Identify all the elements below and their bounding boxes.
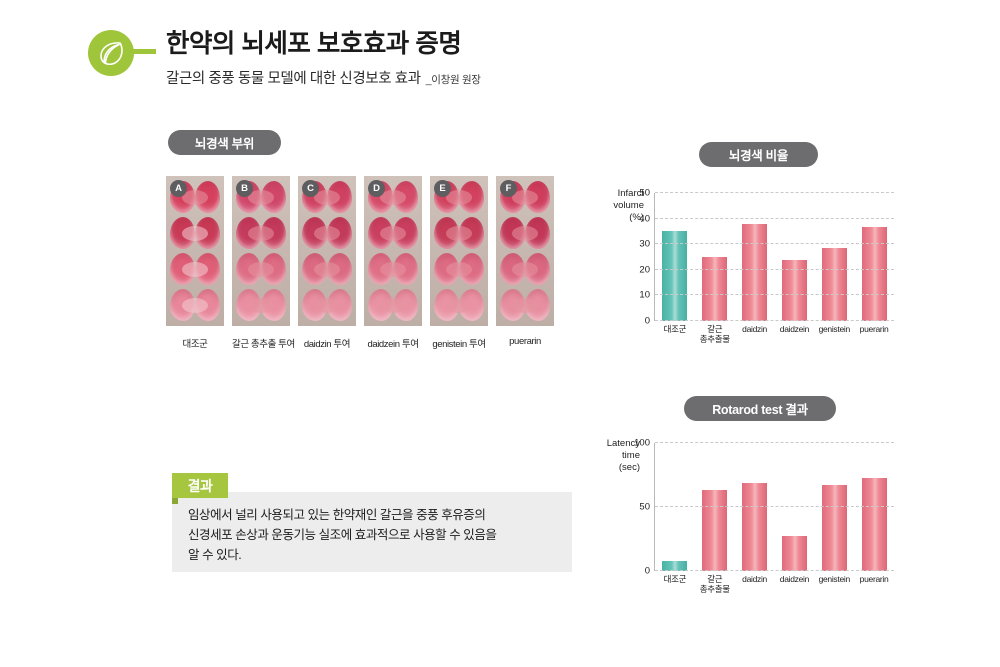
bar-slot <box>774 443 814 571</box>
panel-letter-badge: B <box>236 180 253 197</box>
y-axis-tick-label: 0 <box>645 316 650 327</box>
y-axis-tick-label: 50 <box>639 502 650 513</box>
panel-caption: puerarin <box>496 336 554 347</box>
panel-caption: 대조군 <box>166 336 224 350</box>
brain-slice <box>434 217 484 249</box>
brain-slice-strip: E <box>430 176 488 326</box>
result-tab-label: 결과 <box>172 473 228 498</box>
brain-slice-core <box>380 298 406 313</box>
panel-letter-badge: C <box>302 180 319 197</box>
logo-bar <box>132 49 156 54</box>
panel-letter-badge: E <box>434 180 451 197</box>
brain-slice <box>302 253 352 285</box>
panel-caption: genistein 투여 <box>430 336 488 350</box>
brain-slice <box>368 289 418 321</box>
page-header: 한약의 뇌세포 보호효과 증명 갈근의 중풍 동물 모델에 대한 신경보호 효과… <box>88 28 481 88</box>
result-body-text: 임상에서 널리 사용되고 있는 한약재인 갈근을 중풍 후유증의 신경세포 손상… <box>188 506 562 565</box>
bar <box>822 485 847 571</box>
brain-slice <box>236 289 286 321</box>
bar-slot <box>774 193 814 321</box>
bar <box>742 483 767 571</box>
brain-slice-core <box>380 262 406 277</box>
brain-slice-strip: A <box>166 176 224 326</box>
brain-slice-core <box>248 262 274 277</box>
panel-letter-badge: A <box>170 180 187 197</box>
brain-slice-core <box>248 226 274 241</box>
bar-slot <box>735 193 775 321</box>
gridline: 40 <box>655 218 894 219</box>
chart1-y-axis-title: Infarctvolume(%) <box>598 188 644 224</box>
brain-panel-c: Cdaidzin 투여 <box>298 176 356 350</box>
brain-slice <box>236 253 286 285</box>
brain-panel-group: A대조군B갈근 총추출 투여Cdaidzin 투여Ddaidzein 투여Ege… <box>166 176 554 350</box>
gridline: 0 <box>655 320 894 321</box>
y-axis-tick-label: 100 <box>634 438 650 449</box>
x-axis-tick-label: 갈근총추출물 <box>695 325 735 345</box>
bar-slot <box>854 193 894 321</box>
bar <box>742 224 767 321</box>
brain-slice-core <box>314 298 340 313</box>
result-box: 결과 임상에서 널리 사용되고 있는 한약재인 갈근을 중풍 후유증의 신경세포… <box>172 492 572 572</box>
gridline: 50 <box>655 506 894 507</box>
panel-caption: daidzein 투여 <box>364 336 422 350</box>
title-block: 한약의 뇌세포 보호효과 증명 갈근의 중풍 동물 모델에 대한 신경보호 효과… <box>166 28 481 88</box>
brain-panel-d: Ddaidzein 투여 <box>364 176 422 350</box>
brain-slice-core <box>512 298 538 313</box>
bar-slot <box>655 443 695 571</box>
brain-slice-core <box>182 298 208 313</box>
chart-latency-time: Latencytime(sec) 대조군갈근총추출물daidzindaidzei… <box>594 434 898 594</box>
brain-slice-core <box>182 262 208 277</box>
bar <box>822 248 847 321</box>
brain-slice <box>434 253 484 285</box>
chart1-x-labels: 대조군갈근총추출물daidzindaidzeingenisteinpuerari… <box>655 321 894 345</box>
chart2-x-labels: 대조군갈근총추출물daidzindaidzeingenisteinpuerari… <box>655 571 894 595</box>
brain-slice-core <box>512 262 538 277</box>
brain-slice <box>170 289 220 321</box>
brain-slice-strip: D <box>364 176 422 326</box>
brain-slice-strip: C <box>298 176 356 326</box>
gridline: 30 <box>655 243 894 244</box>
section-badge-brain-infarct-area: 뇌경색 부위 <box>168 130 281 155</box>
author-credit: _이창원 원장 <box>426 72 481 87</box>
brain-slice <box>302 289 352 321</box>
brain-panel-b: B갈근 총추출 투여 <box>232 176 290 350</box>
brain-slice-core <box>446 226 472 241</box>
bar-slot <box>814 193 854 321</box>
chart-infarct-volume: Infarctvolume(%) 대조군갈근총추출물daidzindaidzei… <box>598 184 898 344</box>
gridline: 0 <box>655 570 894 571</box>
chart1-bars <box>655 193 894 321</box>
y-axis-tick-label: 50 <box>639 188 650 199</box>
bar <box>862 478 887 571</box>
x-axis-tick-label: 대조군 <box>655 575 695 595</box>
page-title: 한약의 뇌세포 보호효과 증명 <box>166 30 481 59</box>
brain-slice-core <box>446 262 472 277</box>
brain-slice-core <box>182 226 208 241</box>
logo <box>88 28 160 78</box>
panel-caption: daidzin 투여 <box>298 336 356 350</box>
chart2-y-axis-title: Latencytime(sec) <box>594 438 640 474</box>
x-axis-tick-label: genistein <box>814 325 854 345</box>
brain-slice <box>170 217 220 249</box>
brain-slice-core <box>314 226 340 241</box>
brain-slice <box>368 217 418 249</box>
section-badge-rotarod-result: Rotarod test 결과 <box>684 396 836 421</box>
brain-slice-strip: F <box>496 176 554 326</box>
chart2-bars <box>655 443 894 571</box>
bar <box>782 536 807 571</box>
bar <box>702 257 727 321</box>
leaf-icon <box>97 39 125 67</box>
gridline: 100 <box>655 442 894 443</box>
bar-slot <box>854 443 894 571</box>
y-axis-tick-label: 40 <box>639 213 650 224</box>
bar-slot <box>814 443 854 571</box>
panel-caption: 갈근 총추출 투여 <box>232 336 290 350</box>
brain-slice <box>500 253 550 285</box>
y-axis-tick-label: 20 <box>639 264 650 275</box>
x-axis-tick-label: 갈근총추출물 <box>695 575 735 595</box>
brain-slice-core <box>314 262 340 277</box>
brain-slice <box>302 217 352 249</box>
y-axis-tick-label: 10 <box>639 290 650 301</box>
x-axis-tick-label: genistein <box>814 575 854 595</box>
brain-slice <box>500 217 550 249</box>
chart2-plot-area: 대조군갈근총추출물daidzindaidzeingenisteinpuerari… <box>654 443 894 571</box>
subtitle-row: 갈근의 중풍 동물 모델에 대한 신경보호 효과 _이창원 원장 <box>166 67 481 88</box>
gridline: 20 <box>655 269 894 270</box>
x-axis-tick-label: 대조군 <box>655 325 695 345</box>
brain-slice <box>236 217 286 249</box>
brain-slice-core <box>446 298 472 313</box>
brain-slice <box>170 253 220 285</box>
x-axis-tick-label: daidzein <box>774 575 814 595</box>
bar <box>862 227 887 321</box>
brain-slice-core <box>380 226 406 241</box>
section-badge-infarct-ratio: 뇌경색 비율 <box>699 142 818 167</box>
x-axis-tick-label: daidzin <box>735 325 775 345</box>
bar-slot <box>655 193 695 321</box>
bar-slot <box>695 193 735 321</box>
chart1-plot-area: 대조군갈근총추출물daidzindaidzeingenisteinpuerari… <box>654 193 894 321</box>
brain-slice-core <box>248 298 274 313</box>
x-axis-tick-label: puerarin <box>854 325 894 345</box>
brain-slice-core <box>512 226 538 241</box>
y-axis-tick-label: 0 <box>645 566 650 577</box>
y-axis-tick-label: 30 <box>639 239 650 250</box>
bar <box>702 490 727 571</box>
x-axis-tick-label: daidzin <box>735 575 775 595</box>
panel-letter-badge: F <box>500 180 517 197</box>
brain-slice <box>500 289 550 321</box>
brain-panel-f: Fpuerarin <box>496 176 554 350</box>
x-axis-tick-label: daidzein <box>774 325 814 345</box>
page-subtitle: 갈근의 중풍 동물 모델에 대한 신경보호 효과 <box>166 67 421 88</box>
brain-panel-e: Egenistein 투여 <box>430 176 488 350</box>
result-tab-fold <box>172 498 178 504</box>
bar-slot <box>695 443 735 571</box>
bar-slot <box>735 443 775 571</box>
panel-letter-badge: D <box>368 180 385 197</box>
gridline: 10 <box>655 294 894 295</box>
brain-panel-a: A대조군 <box>166 176 224 350</box>
brain-slice-strip: B <box>232 176 290 326</box>
gridline: 50 <box>655 192 894 193</box>
brain-slice <box>368 253 418 285</box>
x-axis-tick-label: puerarin <box>854 575 894 595</box>
brain-slice <box>434 289 484 321</box>
